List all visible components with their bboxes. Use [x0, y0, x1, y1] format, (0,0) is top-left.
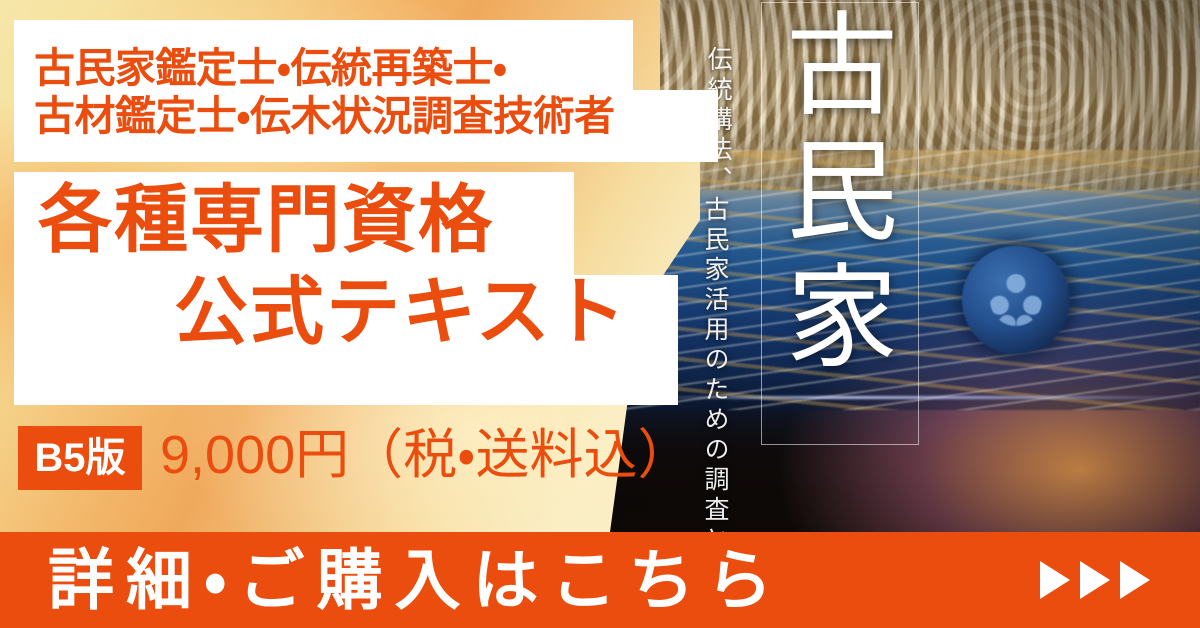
- triangle-right-icon: [1040, 561, 1070, 599]
- cta-label: 詳細・ご購入はこちら: [48, 547, 784, 613]
- promo-banner: 古民家 伝統構法、 古民家活用のための調査と再生の 古民家鑑定士・伝統再築士・ …: [0, 0, 1200, 628]
- cta-button[interactable]: 詳細・ご購入はこちら: [0, 532, 1200, 628]
- triangle-right-icon: [1080, 561, 1110, 599]
- cover-title: 古民家: [780, 6, 900, 384]
- price-amount: 9,000円（税・送料込）: [160, 428, 692, 482]
- certifications-card: 古民家鑑定士・伝統再築士・ 古材鑑定士・伝木状況調査技術者: [14, 20, 718, 162]
- headline-line-2: 公式テキスト: [174, 268, 628, 355]
- cta-arrow-group: [1040, 561, 1150, 599]
- headline-line-1: 各種専門資格: [38, 176, 494, 263]
- certifications-text: 古民家鑑定士・伝統再築士・ 古材鑑定士・伝木状況調査技術者: [34, 45, 724, 141]
- certifications-line-2: 古材鑑定士・伝木状況調査技術者: [34, 93, 724, 141]
- triangle-right-icon: [1120, 561, 1150, 599]
- certifications-line-1: 古民家鑑定士・伝統再築士・: [34, 45, 724, 93]
- format-badge: B5版: [18, 426, 142, 490]
- format-badge-label: B5版: [34, 438, 125, 478]
